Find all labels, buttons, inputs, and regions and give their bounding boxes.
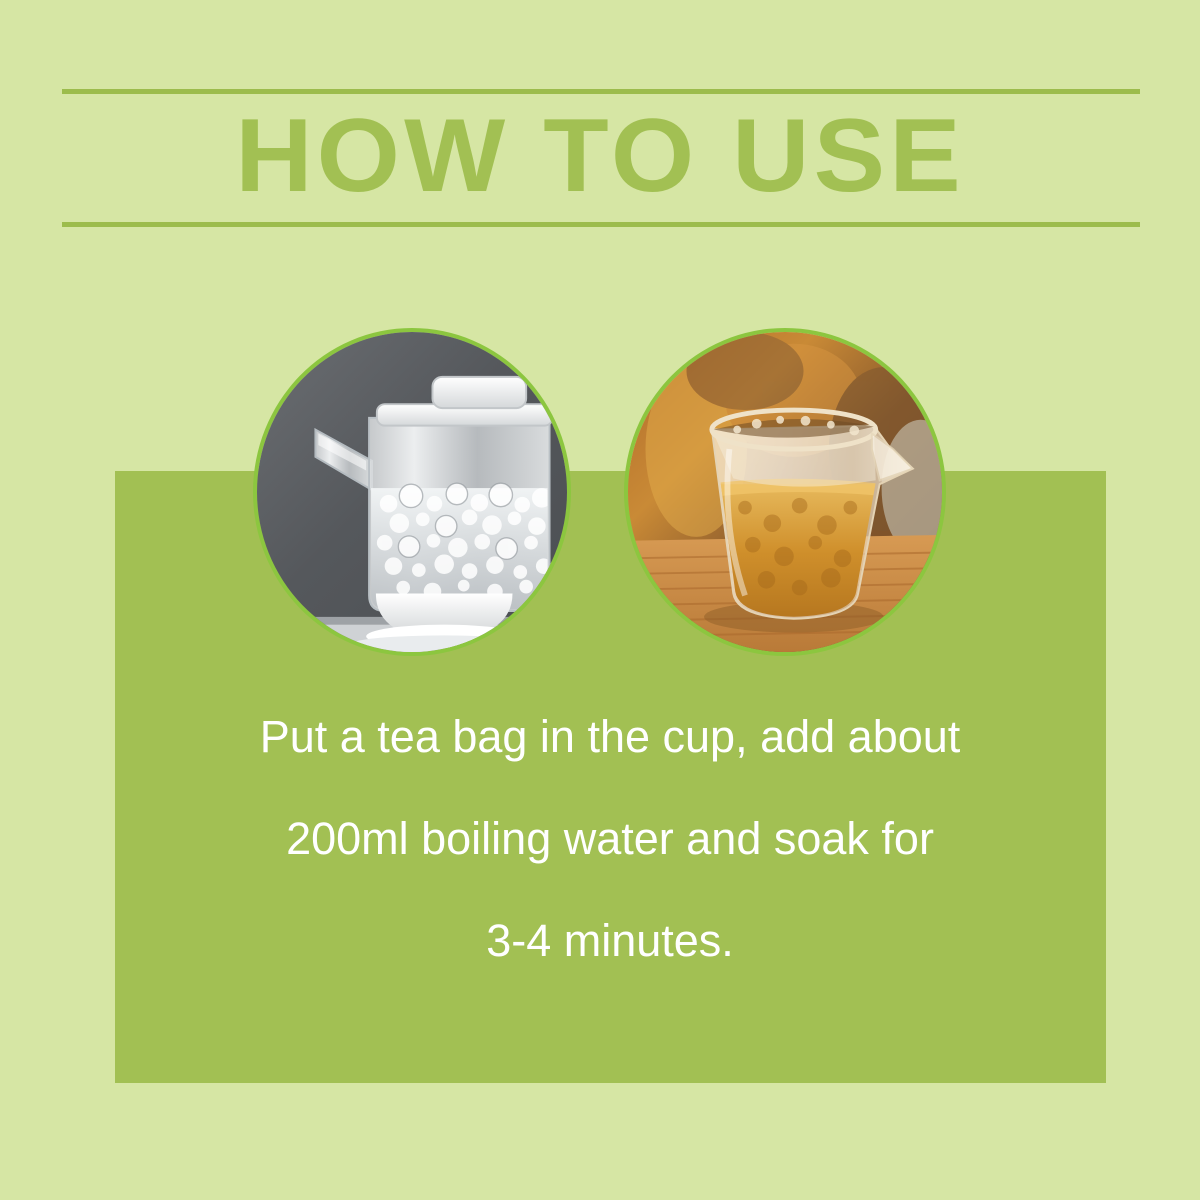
- tea-cup-photo: [624, 328, 946, 656]
- how-to-use-poster: HOW TO USE: [0, 0, 1200, 1200]
- instruction-line-3: 3-4 minutes.: [150, 890, 1070, 992]
- instruction-line-1: Put a tea bag in the cup, add about: [150, 686, 1070, 788]
- boiling-kettle-photo: [253, 328, 571, 656]
- title-rule-bottom: [62, 222, 1140, 227]
- tea-cup-illustration: [628, 332, 942, 652]
- instruction-line-2: 200ml boiling water and soak for: [150, 788, 1070, 890]
- title-rule-top: [62, 89, 1140, 94]
- boiling-kettle-illustration: [257, 332, 567, 652]
- page-title: HOW TO USE: [0, 95, 1200, 217]
- instruction-text: Put a tea bag in the cup, add about 200m…: [150, 686, 1070, 992]
